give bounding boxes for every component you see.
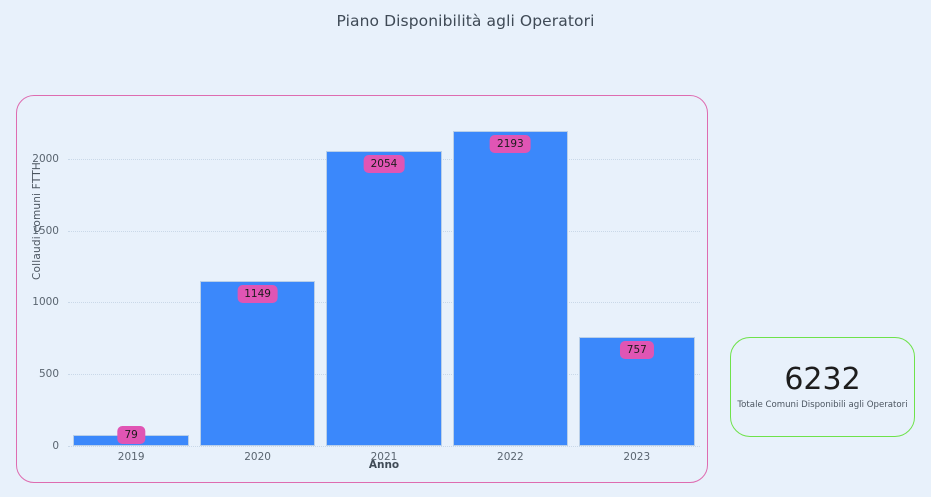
y-axis-tick-label: 1000 (32, 296, 59, 308)
bar-value-label: 79 (117, 426, 144, 445)
kpi-caption: Totale Comuni Disponibili agli Operatori (737, 400, 907, 410)
bar[interactable] (326, 151, 442, 446)
y-axis-title: Collaudi comuni FTTH (31, 162, 43, 280)
y-axis-tick-label: 1500 (32, 225, 59, 237)
bar-value-label: 2193 (490, 135, 531, 154)
y-axis-tick-label: 500 (39, 368, 59, 380)
bar-value-label: 1149 (237, 285, 278, 304)
bar-value-label: 757 (620, 341, 654, 360)
bar-value-label: 2054 (364, 155, 405, 174)
kpi-value: 6232 (784, 364, 860, 396)
y-axis-tick-label: 0 (52, 440, 59, 452)
x-axis-title: Anno (68, 459, 700, 471)
bar-group[interactable]: 7572023 (579, 110, 695, 446)
bar-group[interactable]: 792019 (73, 110, 189, 446)
plot-area: 0500100015002000792019114920202054202121… (68, 110, 700, 446)
bar[interactable] (453, 131, 569, 446)
bar-group[interactable]: 11492020 (200, 110, 316, 446)
gridline (68, 446, 700, 447)
bar-group[interactable]: 21932022 (453, 110, 569, 446)
bar-group[interactable]: 20542021 (326, 110, 442, 446)
kpi-card: 6232 Totale Comuni Disponibili agli Oper… (730, 337, 915, 437)
bar[interactable] (200, 281, 316, 446)
page-title: Piano Disponibilità agli Operatori (0, 12, 931, 30)
y-axis-tick-label: 2000 (32, 153, 59, 165)
